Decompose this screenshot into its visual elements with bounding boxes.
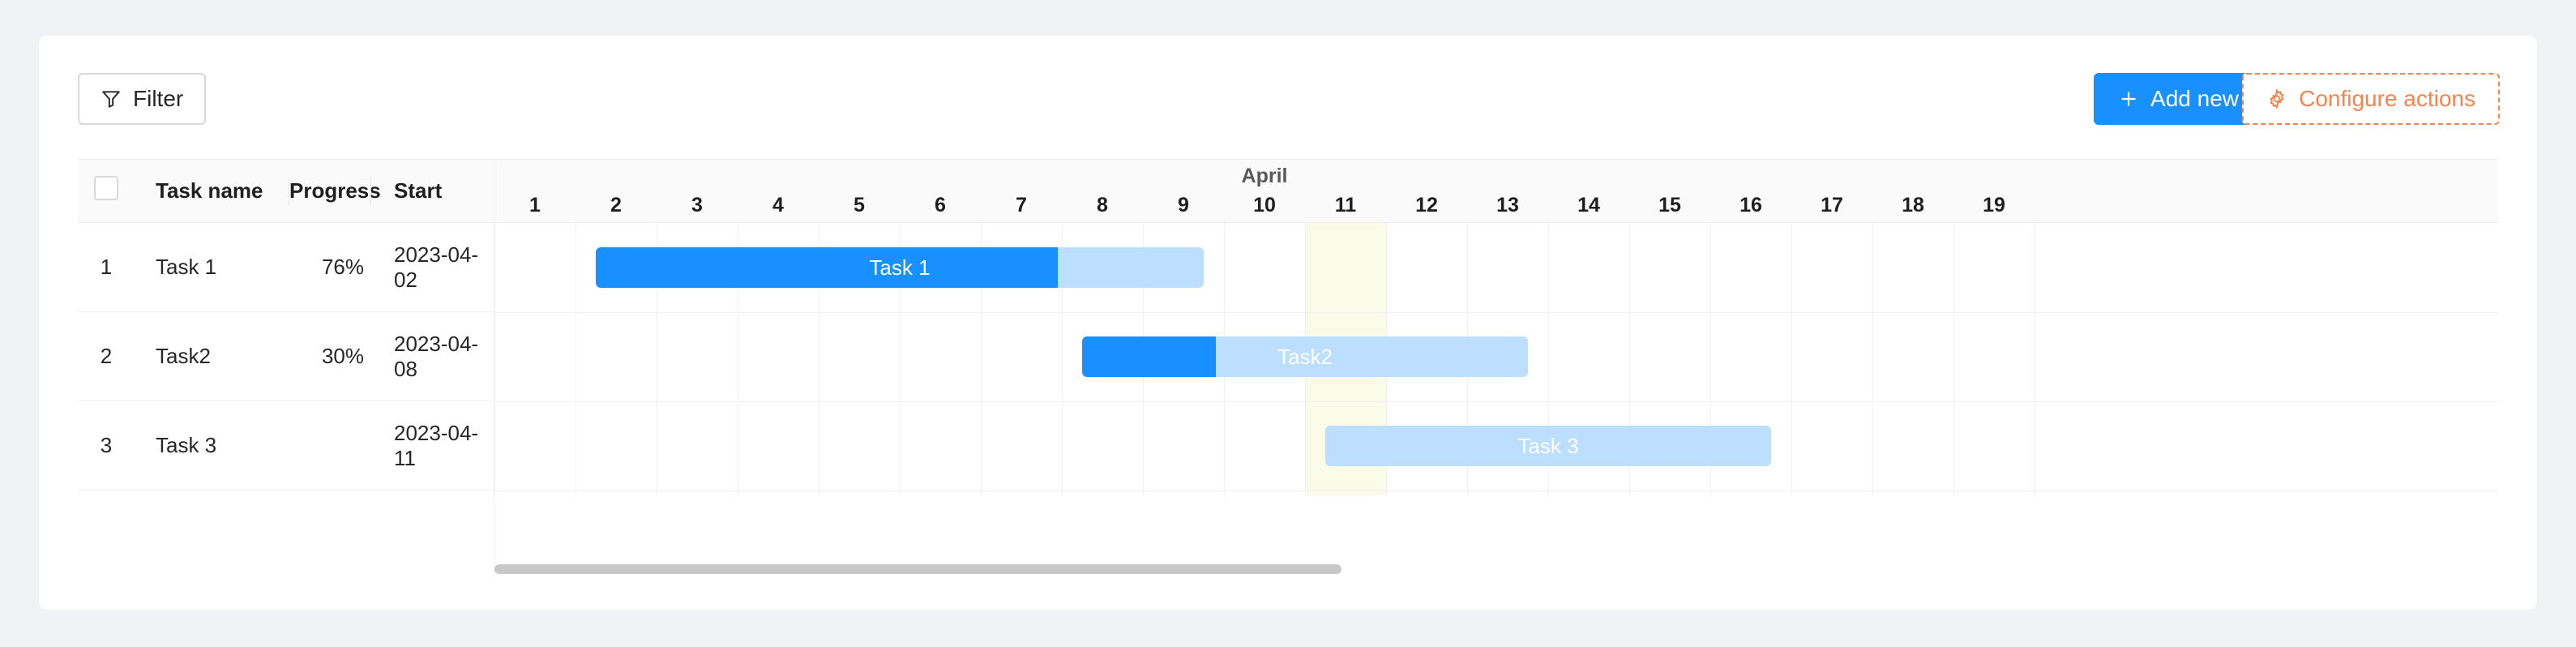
table-header-row: Task name Progress Start bbox=[78, 160, 494, 223]
filter-button-label: Filter bbox=[133, 86, 183, 112]
gantt-card: Filter Add new Configure actions bbox=[39, 36, 2537, 610]
column-header-progress[interactable]: Progress bbox=[289, 178, 370, 204]
table-row[interactable]: 3 Task 3 2023-04-11 bbox=[78, 401, 494, 491]
timeline-grid: Task 1Task2Task 3 bbox=[494, 223, 2498, 495]
row-start-date: 2023-04-02 bbox=[371, 242, 494, 293]
column-header-start[interactable]: Start bbox=[371, 178, 494, 204]
timeline-day-10: 10 bbox=[1224, 194, 1305, 217]
row-progress: 30% bbox=[289, 344, 370, 369]
timeline-day-8: 8 bbox=[1062, 194, 1143, 217]
grid-line-vertical bbox=[1953, 223, 1954, 495]
grid-line-horizontal bbox=[494, 401, 2498, 402]
timeline-day-16: 16 bbox=[1710, 194, 1791, 217]
timeline: April 12345678910111213141516171819 Task… bbox=[494, 160, 2498, 576]
timeline-day-7: 7 bbox=[981, 194, 1062, 217]
timeline-day-9: 9 bbox=[1143, 194, 1224, 217]
timeline-day-4: 4 bbox=[738, 194, 819, 217]
funnel-icon bbox=[101, 88, 122, 109]
gantt-bar[interactable]: Task2 bbox=[1082, 336, 1528, 377]
timeline-day-3: 3 bbox=[657, 194, 738, 217]
plus-icon bbox=[2118, 88, 2139, 109]
horizontal-scrollbar[interactable] bbox=[494, 564, 1341, 574]
column-header-task-name[interactable]: Task name bbox=[135, 178, 289, 204]
gantt-bar-progress-fill bbox=[596, 247, 1058, 288]
table-row[interactable]: 1 Task 1 76% 2023-04-02 bbox=[78, 223, 494, 312]
table-row[interactable]: 2 Task2 30% 2023-04-08 bbox=[78, 312, 494, 401]
add-new-button-label: Add new bbox=[2150, 86, 2239, 112]
timeline-day-18: 18 bbox=[1872, 194, 1953, 217]
timeline-day-11: 11 bbox=[1305, 194, 1386, 217]
timeline-day-6: 6 bbox=[900, 194, 981, 217]
filter-button[interactable]: Filter bbox=[78, 73, 206, 125]
row-task-name: Task2 bbox=[135, 344, 289, 369]
row-index: 3 bbox=[78, 433, 135, 458]
timeline-day-17: 17 bbox=[1791, 194, 1872, 217]
row-task-name: Task 1 bbox=[135, 255, 289, 280]
add-new-button[interactable]: Add new bbox=[2094, 73, 2263, 125]
grid-line-horizontal bbox=[494, 312, 2498, 313]
configure-actions-button[interactable]: Configure actions bbox=[2242, 73, 2500, 125]
select-all-checkbox[interactable] bbox=[94, 176, 118, 200]
row-index: 1 bbox=[78, 255, 135, 280]
gantt-body: Task name Progress Start 1 Task 1 76% 20… bbox=[78, 159, 2498, 576]
gear-icon bbox=[2266, 88, 2287, 109]
grid-line-vertical bbox=[2035, 223, 2035, 495]
select-all-cell bbox=[78, 176, 135, 206]
toolbar: Filter Add new Configure actions bbox=[39, 36, 2537, 126]
grid-line-vertical bbox=[1872, 223, 1873, 495]
timeline-month-label: April bbox=[1242, 165, 1288, 188]
row-start-date: 2023-04-08 bbox=[371, 332, 494, 382]
timeline-day-15: 15 bbox=[1629, 194, 1710, 217]
grid-line-vertical bbox=[494, 223, 495, 495]
grid-line-vertical bbox=[576, 223, 576, 495]
task-table: Task name Progress Start 1 Task 1 76% 20… bbox=[78, 160, 494, 576]
row-progress: 76% bbox=[289, 255, 370, 280]
row-task-name: Task 3 bbox=[135, 433, 289, 458]
timeline-day-5: 5 bbox=[819, 194, 900, 217]
gantt-bar-label: Task 3 bbox=[1325, 426, 1771, 466]
timeline-day-19: 19 bbox=[1953, 194, 2035, 217]
timeline-day-12: 12 bbox=[1386, 194, 1467, 217]
timeline-day-14: 14 bbox=[1548, 194, 1629, 217]
configure-actions-button-label: Configure actions bbox=[2299, 86, 2475, 112]
timeline-day-1: 1 bbox=[494, 194, 576, 217]
row-start-date: 2023-04-11 bbox=[371, 421, 494, 471]
timeline-day-2: 2 bbox=[576, 194, 657, 217]
timeline-day-13: 13 bbox=[1467, 194, 1548, 217]
grid-line-horizontal bbox=[494, 491, 2498, 491]
row-index: 2 bbox=[78, 344, 135, 369]
gantt-bar[interactable]: Task 1 bbox=[596, 247, 1204, 288]
gantt-bar-progress-fill bbox=[1082, 336, 1216, 377]
timeline-header: April 12345678910111213141516171819 bbox=[494, 160, 2498, 223]
grid-line-vertical bbox=[1791, 223, 1792, 495]
gantt-bar[interactable]: Task 3 bbox=[1325, 426, 1771, 466]
